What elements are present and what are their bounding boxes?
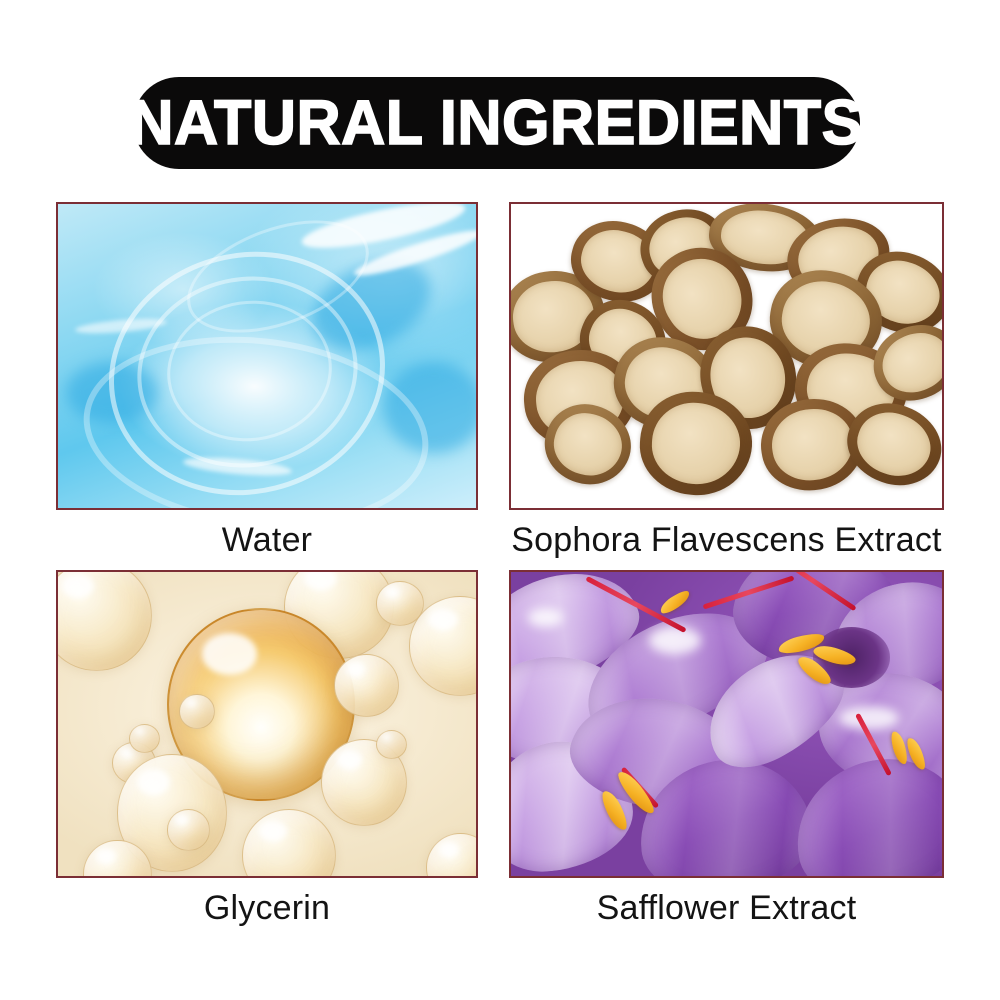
oil-bubble <box>426 833 476 876</box>
ingredient-card-water: Water <box>56 202 478 559</box>
oil-bubble <box>179 694 214 729</box>
page-title: NATURAL INGREDIENTS <box>130 92 864 155</box>
petal-highlight <box>649 627 701 654</box>
oil-bubble <box>129 724 160 753</box>
ingredient-card-safflower: Safflower Extract <box>509 570 944 927</box>
water-ripples-photo <box>58 204 476 508</box>
title-banner: NATURAL INGREDIENTS <box>133 77 860 169</box>
glycerin-photo-frame <box>56 570 478 878</box>
ingredient-grid: Water <box>56 202 944 944</box>
oil-bubble <box>376 730 407 759</box>
ingredient-card-glycerin: Glycerin <box>56 570 478 927</box>
petal-highlight <box>839 706 899 730</box>
sophora-photo-frame <box>509 202 944 510</box>
oil-bubble <box>242 809 336 876</box>
ingredient-label-glycerin: Glycerin <box>56 890 478 927</box>
oil-bubble <box>58 572 152 671</box>
infographic-page: NATURAL INGREDIENTS <box>0 0 1000 1000</box>
dried-root-slices-photo <box>511 204 942 508</box>
purple-saffron-crocus-photo <box>511 572 942 876</box>
oil-bubble <box>334 654 399 717</box>
ingredient-label-safflower: Safflower Extract <box>509 890 944 927</box>
water-photo-frame <box>56 202 478 510</box>
crocus-stamen <box>657 588 692 617</box>
golden-oil-bubbles-photo <box>58 572 476 876</box>
safflower-photo-frame <box>509 570 944 878</box>
oil-bubble <box>167 809 211 851</box>
ingredient-label-sophora: Sophora Flavescens Extract <box>509 522 944 559</box>
oil-bubble <box>376 581 424 626</box>
ingredient-card-sophora: Sophora Flavescens Extract <box>509 202 944 559</box>
petal-highlight <box>528 608 562 626</box>
ingredient-label-water: Water <box>56 522 478 559</box>
